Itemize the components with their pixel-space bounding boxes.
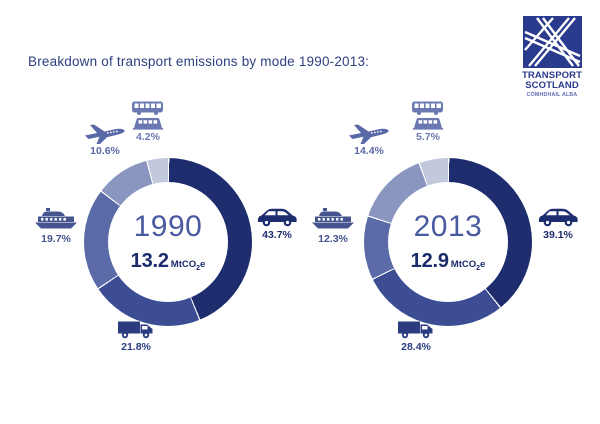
donut-center-2013: 2013 12.9MtCO2e <box>378 212 518 272</box>
bus-icon <box>411 100 445 115</box>
bus-icon <box>131 100 165 115</box>
total-emissions-1990: 13.2MtCO2e <box>98 251 238 272</box>
airplane-icon <box>347 122 391 144</box>
callout-aviation-1990: 10.6% <box>72 122 138 157</box>
total-emissions-2013: 12.9MtCO2e <box>378 251 518 272</box>
callout-hgv-1990: 21.8% <box>100 318 172 353</box>
callout-pct-aviation-1990: 10.6% <box>72 146 138 157</box>
total-unit-2013: MtCO2e <box>451 259 486 270</box>
infographic-canvas: Breakdown of transport emissions by mode… <box>0 0 600 424</box>
callout-pct-shipping-2013: 12.3% <box>297 234 369 245</box>
callout-hgv-2013: 28.4% <box>378 318 454 353</box>
callout-shipping-1990: 19.7% <box>20 206 92 245</box>
donut-chart-1990: 1990 13.2MtCO2e <box>84 158 252 326</box>
tram-icon <box>411 117 445 130</box>
logo-line-2: SCOTLAND <box>519 81 585 91</box>
callout-pct-car-2013: 39.1% <box>523 230 593 241</box>
callout-pct-hgv-1990: 21.8% <box>100 342 172 353</box>
year-label-2013: 2013 <box>378 212 518 242</box>
callout-aviation-2013: 14.4% <box>334 122 404 157</box>
donut-center-1990: 1990 13.2MtCO2e <box>98 212 238 272</box>
car-icon <box>536 206 580 228</box>
donut-chart-2013: 2013 12.9MtCO2e <box>364 158 532 326</box>
transport-scotland-saltire-roads-mark <box>523 16 582 68</box>
total-unit-1990: MtCO2e <box>171 259 206 270</box>
total-value-2013: 12.9 <box>411 250 449 272</box>
car-icon <box>255 206 299 228</box>
logo-line-3-gaelic: CÒMHDHAIL ALBA <box>519 92 585 98</box>
callout-shipping-2013: 12.3% <box>297 206 369 245</box>
total-value-1990: 13.2 <box>131 250 169 272</box>
page-title: Breakdown of transport emissions by mode… <box>28 54 369 69</box>
year-label-1990: 1990 <box>98 212 238 242</box>
callout-pct-hgv-2013: 28.4% <box>378 342 454 353</box>
callout-pct-aviation-2013: 14.4% <box>334 146 404 157</box>
callout-car-2013: 39.1% <box>523 206 593 241</box>
ship-icon <box>32 206 80 232</box>
callout-pct-shipping-1990: 19.7% <box>20 234 92 245</box>
truck-icon <box>116 318 156 340</box>
transport-scotland-logo: TRANSPORT SCOTLAND CÒMHDHAIL ALBA <box>519 16 585 98</box>
airplane-icon <box>83 122 127 144</box>
ship-icon <box>309 206 357 232</box>
truck-icon <box>396 318 436 340</box>
